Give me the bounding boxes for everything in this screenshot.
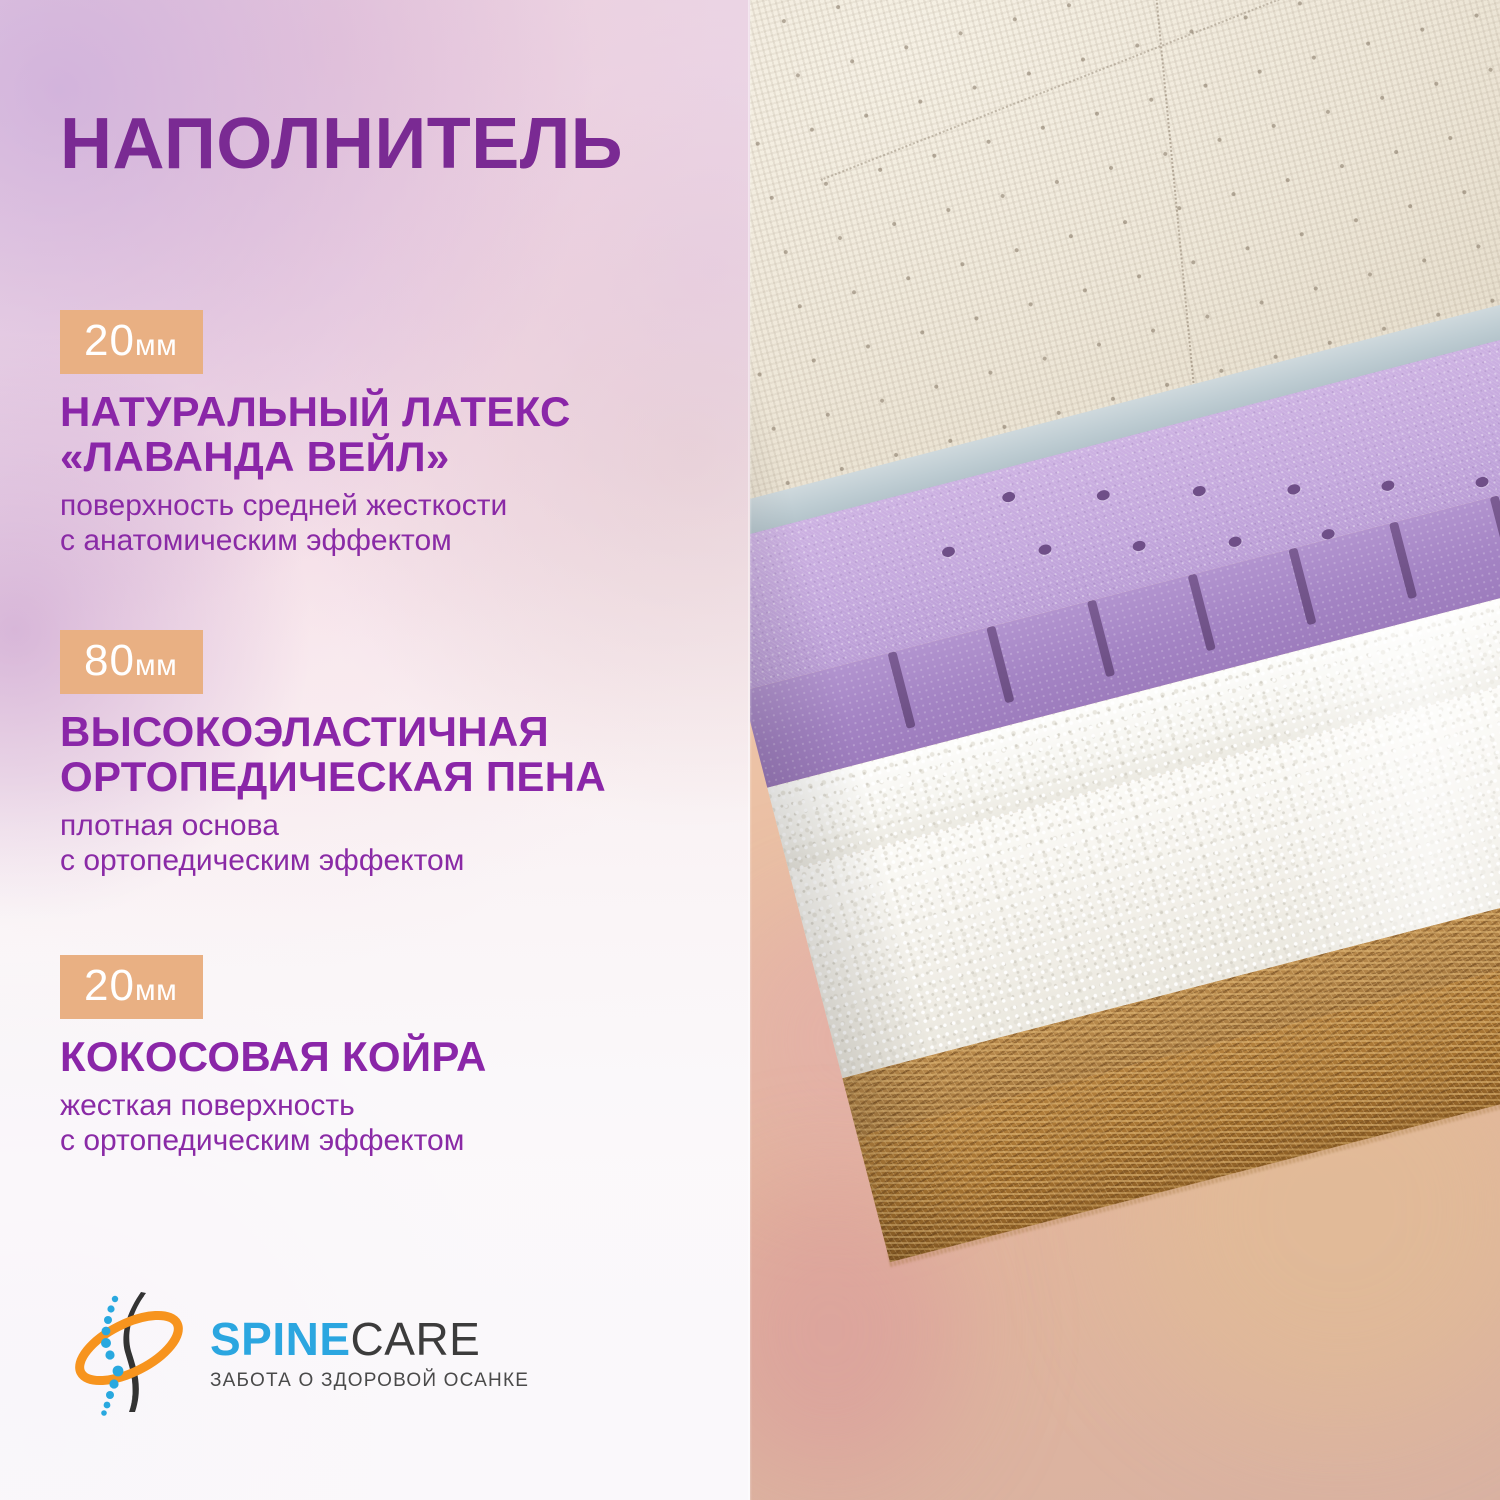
- logo-word-primary: SPINE: [210, 1313, 351, 1365]
- thickness-badge: 80мм: [60, 630, 203, 694]
- poster-canvas: НАПОЛНИТЕЛЬ 20мм НАТУРАЛЬНЫЙ ЛАТЕКС «ЛАВ…: [0, 0, 1500, 1500]
- layer-title-line-1: КОКОСОВАЯ КОЙРА: [60, 1035, 750, 1080]
- product-photo: [750, 0, 1500, 1500]
- layer-item-latex: 20мм НАТУРАЛЬНЫЙ ЛАТЕКС «ЛАВАНДА ВЕЙЛ» п…: [60, 310, 750, 558]
- layer-title: НАТУРАЛЬНЫЙ ЛАТЕКС «ЛАВАНДА ВЕЙЛ»: [60, 390, 750, 480]
- thickness-value: 20: [84, 316, 135, 365]
- thickness-value: 20: [84, 961, 135, 1010]
- thickness-badge: 20мм: [60, 955, 203, 1019]
- layer-description: жесткая поверхность с ортопедическим эфф…: [60, 1089, 750, 1159]
- layer-desc-line-1: жесткая поверхность: [60, 1089, 750, 1124]
- page-title: НАПОЛНИТЕЛЬ: [60, 108, 623, 180]
- layer-desc-line-2: с ортопедическим эффектом: [60, 844, 750, 879]
- logo-text: SPINECARE ЗАБОТА О ЗДОРОВОЙ ОСАНКЕ: [210, 1316, 529, 1392]
- logo-tagline: ЗАБОТА О ЗДОРОВОЙ ОСАНКЕ: [210, 1370, 529, 1392]
- layer-title: КОКОСОВАЯ КОЙРА: [60, 1035, 750, 1080]
- layer-title-line-2: «ЛАВАНДА ВЕЙЛ»: [60, 435, 750, 480]
- thickness-value: 80: [84, 636, 135, 685]
- spine-swoosh-icon: [70, 1288, 188, 1416]
- layer-title-line-1: НАТУРАЛЬНЫЙ ЛАТЕКС: [60, 390, 750, 435]
- layer-item-foam: 80мм ВЫСОКОЭЛАСТИЧНАЯ ОРТОПЕДИЧЕСКАЯ ПЕН…: [60, 630, 750, 878]
- thickness-badge: 20мм: [60, 310, 203, 374]
- layer-title-line-1: ВЫСОКОЭЛАСТИЧНАЯ: [60, 710, 750, 755]
- layer-description: плотная основа с ортопедическим эффектом: [60, 809, 750, 879]
- panel-divider: [748, 0, 752, 1500]
- layer-item-coir: 20мм КОКОСОВАЯ КОЙРА жесткая поверхность…: [60, 955, 750, 1159]
- logo-word-secondary: CARE: [351, 1313, 481, 1365]
- layer-title: ВЫСОКОЭЛАСТИЧНАЯ ОРТОПЕДИЧЕСКАЯ ПЕНА: [60, 710, 750, 800]
- thickness-unit: мм: [135, 329, 177, 362]
- thickness-unit: мм: [135, 974, 177, 1007]
- layer-title-line-2: ОРТОПЕДИЧЕСКАЯ ПЕНА: [60, 755, 750, 800]
- layer-desc-line-2: с анатомическим эффектом: [60, 524, 750, 559]
- layer-desc-line-1: поверхность средней жесткости: [60, 489, 750, 524]
- layer-desc-line-1: плотная основа: [60, 809, 750, 844]
- logo-wordmark: SPINECARE: [210, 1316, 529, 1362]
- layer-desc-line-2: с ортопедическим эффектом: [60, 1124, 750, 1159]
- thickness-unit: мм: [135, 649, 177, 682]
- brand-logo: SPINECARE ЗАБОТА О ЗДОРОВОЙ ОСАНКЕ: [70, 1288, 490, 1418]
- info-panel: НАПОЛНИТЕЛЬ 20мм НАТУРАЛЬНЫЙ ЛАТЕКС «ЛАВ…: [0, 0, 750, 1500]
- mattress-cross-section: [750, 0, 1500, 1307]
- layer-description: поверхность средней жесткости с анатомич…: [60, 489, 750, 559]
